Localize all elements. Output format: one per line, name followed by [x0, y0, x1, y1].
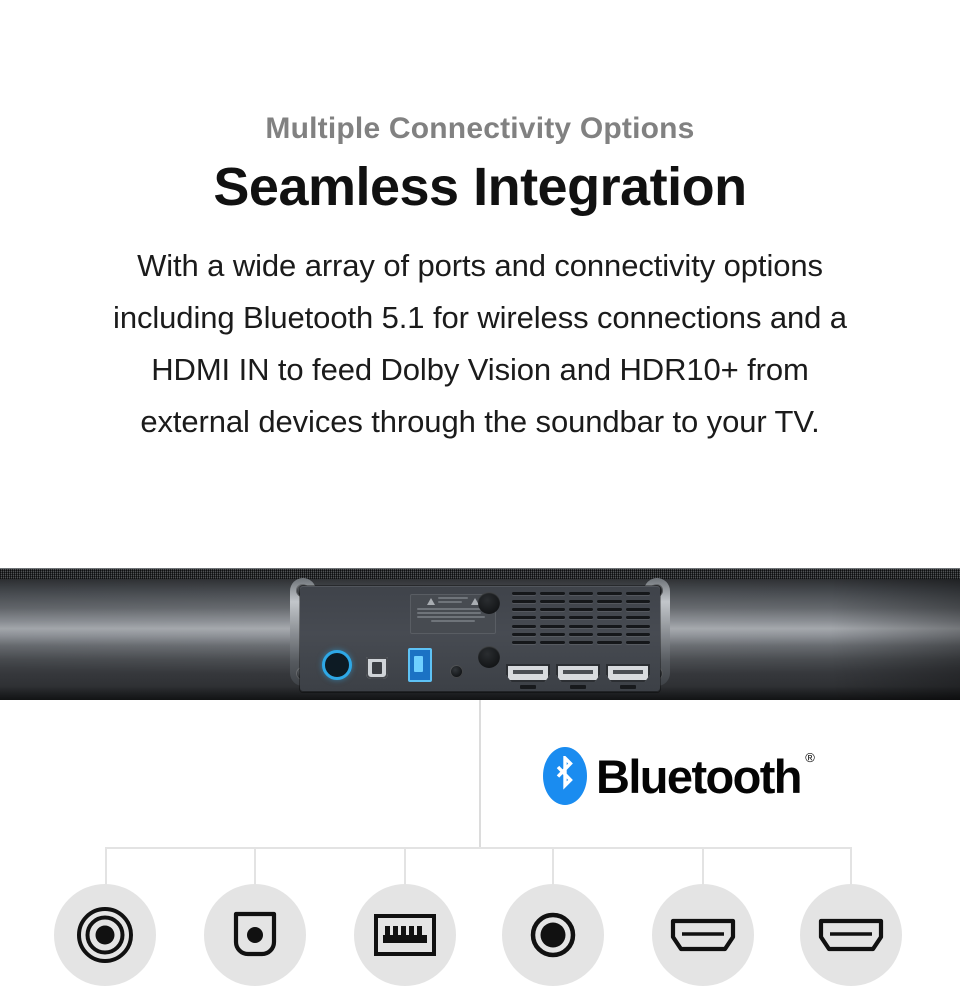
coaxial-icon — [75, 905, 135, 965]
connectivity-icon-aux[interactable] — [502, 884, 604, 986]
connectivity-icon-hdmi-2[interactable] — [800, 884, 902, 986]
connector-line-horizontal-bus — [105, 847, 851, 849]
hero-eyebrow: Multiple Connectivity Options — [0, 0, 960, 145]
physical-port-row — [300, 648, 660, 684]
connectivity-icon-hdmi-1[interactable] — [652, 884, 754, 986]
mounting-hole — [478, 592, 500, 614]
soundbar-product-image — [0, 568, 960, 700]
hdmi-port-2 — [556, 664, 600, 682]
connectivity-icon-usb[interactable] — [354, 884, 456, 986]
connectivity-icon-coaxial[interactable] — [54, 884, 156, 986]
registered-mark: ® — [805, 751, 815, 764]
warning-triangle-icon — [427, 598, 435, 605]
hdmi-port-1 — [506, 664, 550, 682]
optical-icon — [228, 908, 282, 962]
hero-text-block: Multiple Connectivity Options Seamless I… — [0, 0, 960, 448]
connectivity-icon-row — [0, 884, 960, 990]
aux-port — [450, 665, 463, 678]
bluetooth-wordmark-text: Bluetooth — [596, 750, 801, 803]
soundbar-right-shadow — [830, 579, 960, 700]
hdmi-icon — [670, 918, 736, 952]
hdmi-port-3 — [606, 664, 650, 682]
hero-body-copy: With a wide array of ports and connectiv… — [100, 216, 860, 448]
soundbar-port-panel — [300, 586, 660, 692]
coaxial-port — [322, 650, 352, 680]
connector-line-vertical-main — [479, 700, 481, 848]
hdmi-icon — [818, 918, 884, 952]
bluetooth-icon — [543, 747, 587, 805]
connectivity-icon-optical[interactable] — [204, 884, 306, 986]
optical-port — [366, 657, 388, 679]
hdmi-tab — [620, 685, 636, 689]
hdmi-tab — [570, 685, 586, 689]
hdmi-tab — [520, 685, 536, 689]
hero-headline: Seamless Integration — [0, 145, 960, 216]
aux-icon — [529, 911, 577, 959]
usb-icon — [374, 914, 436, 956]
usb-port — [408, 648, 432, 682]
warning-fineprint — [417, 608, 489, 622]
ventilation-slots — [512, 592, 650, 644]
bluetooth-logo: Bluetooth ® — [543, 747, 801, 805]
bluetooth-wordmark: Bluetooth ® — [596, 753, 801, 800]
